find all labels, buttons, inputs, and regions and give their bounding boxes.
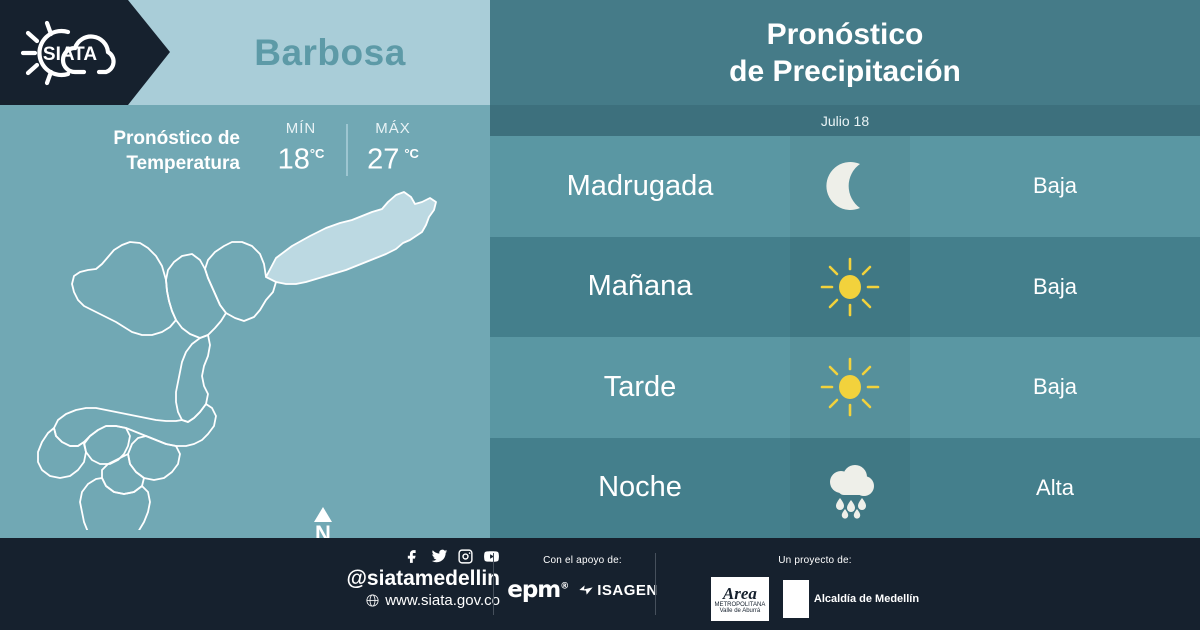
temperature-max: MÁX 27°C <box>354 120 432 177</box>
city-title-band: SIATA Barbosa <box>0 0 490 105</box>
precipitation-title-line2: de Precipitación <box>729 53 961 90</box>
compass-arrow-icon <box>314 507 332 522</box>
table-row[interactable]: Tarde <box>490 337 1200 438</box>
map-region-medellin <box>54 404 216 446</box>
precipitation-title: Pronóstico de Precipitación <box>729 16 961 90</box>
precipitation-panel: Pronóstico de Precipitación Julio 18 Mad… <box>490 0 1200 538</box>
table-row[interactable]: Madrugada Baja <box>490 136 1200 237</box>
project-block: Un proyecto de: Area METROPOLITANA Valle… <box>700 555 930 621</box>
forecast-icon-cell <box>790 237 910 338</box>
temperature-title: Pronóstico de Temperatura <box>60 118 240 176</box>
forecast-icon-cell <box>790 438 910 539</box>
table-row[interactable]: Noche <box>490 438 1200 539</box>
precipitation-title-line1: Pronóstico <box>729 16 961 53</box>
siata-logo-text: SIATA <box>43 44 97 65</box>
support-block: Con el apoyo de: epm® ISAGEN <box>505 555 660 603</box>
forecast-date-band: Julio 18 <box>490 105 1200 136</box>
map-region-medellin-north <box>176 335 210 422</box>
infographic-canvas: SIATA Barbosa Pronóstico de Temperatura … <box>0 0 1200 630</box>
table-row[interactable]: Mañana <box>490 237 1200 338</box>
temperature-title-line2: Temperatura <box>60 151 240 176</box>
rain-cloud-icon <box>818 456 882 520</box>
page-title: Barbosa <box>170 0 490 105</box>
temperature-min-value: 18°C <box>278 137 325 177</box>
map-region-copacabana <box>166 254 226 338</box>
forecast-period: Tarde <box>490 371 790 404</box>
twitter-icon[interactable] <box>431 548 448 565</box>
youtube-icon[interactable] <box>483 548 500 565</box>
project-caption: Un proyecto de: <box>700 555 930 566</box>
left-panel: SIATA Barbosa Pronóstico de Temperatura … <box>0 0 490 538</box>
alcaldia-crest-icon <box>783 580 809 618</box>
temperature-max-unit: °C <box>404 146 419 161</box>
forecast-period: Madrugada <box>490 170 790 203</box>
sun-icon <box>818 355 882 419</box>
aburra-valley-map[interactable]: N <box>30 180 460 530</box>
forecast-table: Madrugada Baja Mañana <box>490 136 1200 538</box>
forecast-date: Julio 18 <box>821 113 869 129</box>
temperature-min-label: MÍN <box>286 120 317 137</box>
alcaldia-label: Alcaldía de Medellín <box>814 593 919 605</box>
forecast-period: Noche <box>490 471 790 504</box>
website-row[interactable]: www.siata.gov.co <box>300 591 500 610</box>
map-region-barbosa <box>266 192 436 284</box>
siata-logo: SIATA <box>0 0 170 105</box>
temperature-divider <box>346 124 348 176</box>
footer-divider <box>655 553 656 615</box>
forecast-probability: Baja <box>910 337 1200 438</box>
map-svg <box>30 180 460 530</box>
social-handle[interactable]: @siatamedellin <box>300 567 500 591</box>
area-metropolitana-logo: Area METROPOLITANA Valle de Aburrá <box>711 577 769 621</box>
support-caption: Con el apoyo de: <box>505 555 660 566</box>
temperature-min-unit: °C <box>310 146 325 161</box>
website-url: www.siata.gov.co <box>385 591 500 610</box>
instagram-icon[interactable] <box>457 548 474 565</box>
precipitation-header: Pronóstico de Precipitación <box>490 0 1200 105</box>
temperature-max-value: 27°C <box>367 137 419 177</box>
temperature-values: MÍN 18°C MÁX 27°C <box>262 118 432 177</box>
social-block: @siatamedellin www.siata.gov.co <box>300 548 500 610</box>
area-logo-line3: Valle de Aburrá <box>720 608 761 614</box>
forecast-probability: Baja <box>910 237 1200 338</box>
globe-icon <box>365 593 380 608</box>
temperature-min: MÍN 18°C <box>262 120 340 177</box>
social-icons <box>300 548 500 565</box>
project-logos: Area METROPOLITANA Valle de Aburrá Alcal… <box>700 577 930 621</box>
alcaldia-block: Alcaldía de Medellín <box>783 580 919 618</box>
forecast-period: Mañana <box>490 270 790 303</box>
map-region-girardota <box>205 242 276 321</box>
temperature-max-label: MÁX <box>375 120 411 137</box>
sun-icon <box>818 255 882 319</box>
map-region-bello <box>72 242 176 335</box>
forecast-probability: Baja <box>910 136 1200 237</box>
map-region-envigado <box>128 436 180 480</box>
moon-icon <box>818 154 882 218</box>
footer: @siatamedellin www.siata.gov.co Con el a… <box>0 538 1200 630</box>
isagen-logo: ISAGEN <box>578 582 658 599</box>
sun-cloud-icon: SIATA <box>14 16 126 90</box>
map-region-caldas <box>80 478 150 530</box>
forecast-probability: Alta <box>910 438 1200 539</box>
footer-divider <box>493 553 494 615</box>
map-region-la-estrella <box>38 428 86 478</box>
map-region-itagui <box>84 426 130 464</box>
isagen-mark-icon <box>578 583 594 597</box>
forecast-icon-cell <box>790 136 910 237</box>
temperature-title-line1: Pronóstico de <box>60 126 240 151</box>
forecast-icon-cell <box>790 337 910 438</box>
epm-logo: epm® <box>507 577 568 603</box>
facebook-icon[interactable] <box>405 548 422 565</box>
support-logos: epm® ISAGEN <box>505 577 660 603</box>
area-logo-script: Area <box>723 585 757 602</box>
